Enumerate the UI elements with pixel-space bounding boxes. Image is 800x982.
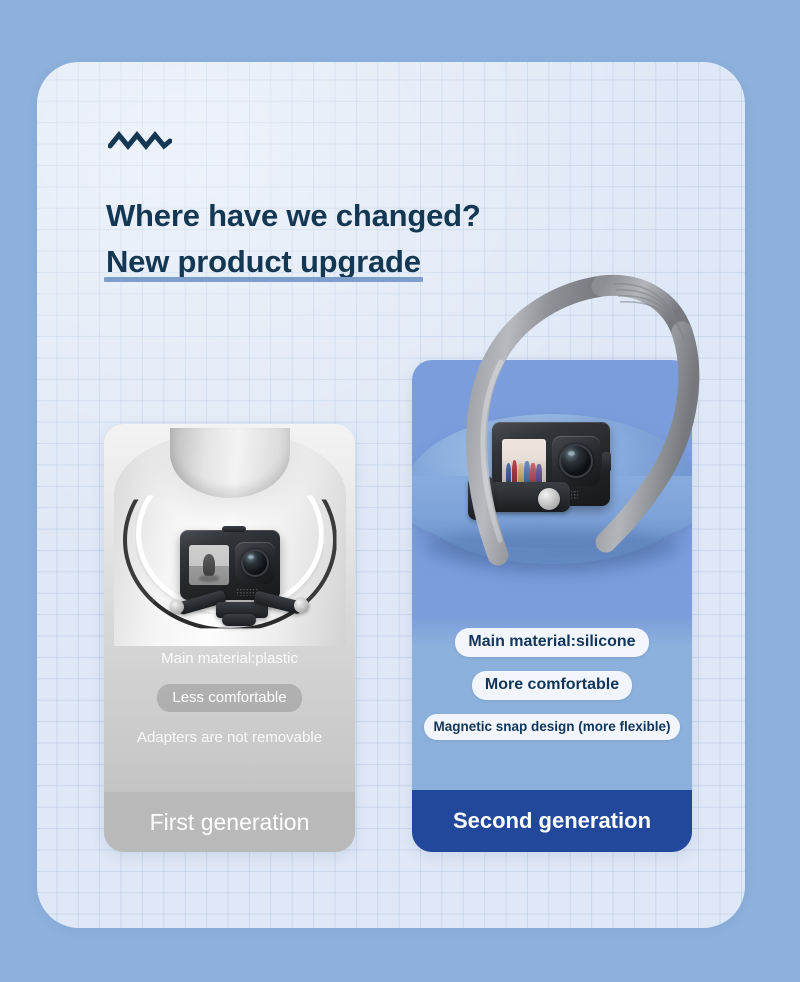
headline-line-2: New product upgrade	[106, 242, 421, 282]
feature-item: Main material:plastic	[161, 650, 298, 667]
adapter-hinge	[222, 614, 256, 626]
first-generation-photo	[104, 424, 355, 646]
camera-front-screen	[189, 545, 229, 585]
first-generation-card: Main material:plastic Less comfortable A…	[104, 424, 355, 852]
zigzag-icon	[108, 126, 172, 152]
camera-side-button	[602, 452, 611, 472]
thumb-screw	[538, 488, 560, 510]
first-generation-features: Main material:plastic Less comfortable A…	[104, 650, 355, 746]
second-generation-label: Second generation	[412, 790, 692, 852]
feature-item: Main material:silicone	[455, 628, 648, 657]
adapter-screw-right	[294, 598, 309, 613]
feature-item: Magnetic snap design (more flexible)	[424, 714, 679, 740]
screen-thumbnail	[502, 439, 546, 488]
mannequin-neck	[170, 428, 290, 498]
second-generation-photo	[412, 360, 692, 642]
camera-lens-housing	[552, 436, 600, 486]
second-generation-features: Main material:silicone More comfortable …	[412, 628, 692, 740]
action-camera-first-gen	[180, 530, 280, 600]
camera-shutter-button	[222, 526, 246, 532]
first-generation-label: First generation	[104, 792, 355, 852]
feature-item: More comfortable	[472, 671, 632, 700]
quick-release-arm	[468, 476, 494, 520]
second-generation-card: Main material:silicone More comfortable …	[412, 360, 692, 852]
feature-item: Less comfortable	[157, 684, 301, 712]
infographic-stage: Where have we changed? New product upgra…	[0, 0, 800, 982]
adapter-screw-left	[170, 600, 184, 614]
pedestal-shadow	[424, 528, 680, 568]
headline-line-1: Where have we changed?	[106, 196, 481, 236]
feature-item: Adapters are not removable	[137, 729, 322, 746]
screen-thumbnail	[189, 545, 229, 585]
camera-front-screen	[502, 439, 546, 488]
camera-lens-housing	[235, 542, 275, 584]
camera-lens	[559, 444, 593, 478]
camera-lens	[241, 549, 269, 577]
page-title: Where have we changed? New product upgra…	[106, 196, 481, 283]
